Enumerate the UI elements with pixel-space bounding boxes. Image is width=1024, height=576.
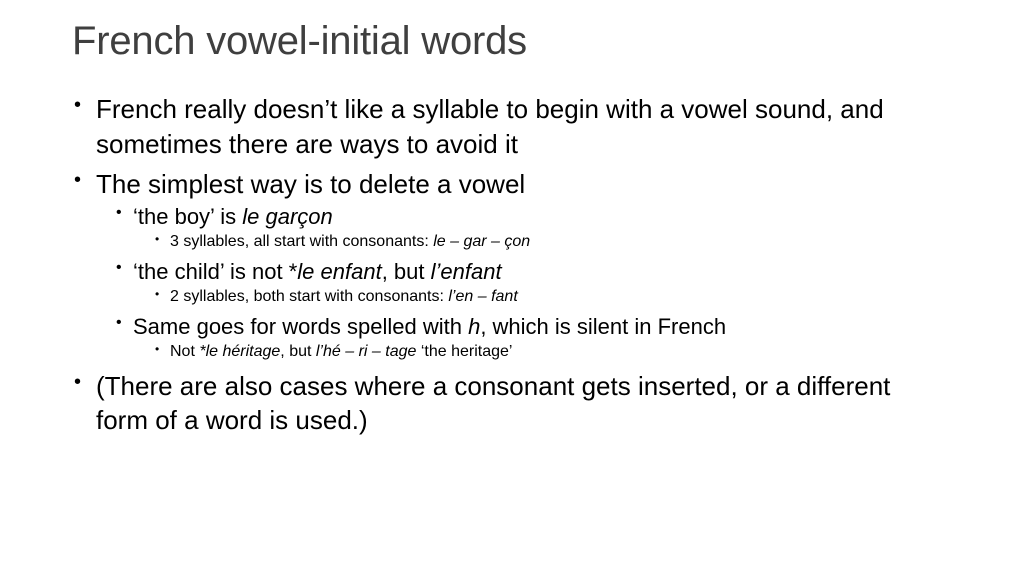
bullet-text-italic: *le héritage <box>199 343 280 360</box>
bullet-glyph: • <box>74 92 81 119</box>
bullet-text: (There are also cases where a consonant … <box>96 371 890 436</box>
bullet-text: The simplest way is to delete a vowel <box>96 169 525 199</box>
bullet-text-italic: l’en – fant <box>448 288 517 305</box>
bullet-text-italic: h <box>468 314 480 339</box>
bullet-level3: •Not *le héritage, but l’hé – ri – tage … <box>0 341 1024 363</box>
bullet-level1: •French really doesn’t like a syllable t… <box>0 92 1024 161</box>
bullet-level1: •(There are also cases where a consonant… <box>0 369 1024 438</box>
page-title: French vowel-initial words <box>72 18 972 65</box>
bullet-text-italic: le enfant <box>297 259 381 284</box>
bullet-text-plain: 2 syllables, both start with consonants: <box>170 288 448 305</box>
bullet-text-italic-2: l’enfant <box>431 259 502 284</box>
bullet-text-plain: 3 syllables, all start with consonants: <box>170 233 433 250</box>
bullet-glyph: • <box>155 231 159 247</box>
bullet-text-italic: le garçon <box>242 204 333 229</box>
bullet-level3: •3 syllables, all start with consonants:… <box>0 231 1024 253</box>
bullet-level2: •‘the boy’ is le garçon <box>0 202 1024 231</box>
bullet-glyph: • <box>116 202 122 223</box>
bullet-text-italic-2: l’hé – ri – tage <box>316 343 417 360</box>
bullet-level3: •2 syllables, both start with consonants… <box>0 286 1024 308</box>
bullet-text-plain-2: , which is silent in French <box>480 314 726 339</box>
bullet-text-plain: Not <box>170 343 199 360</box>
bullet-text-plain: ‘the boy’ is <box>133 204 242 229</box>
bullet-text-plain: Same goes for words spelled with <box>133 314 468 339</box>
bullet-level2: •‘the child’ is not *le enfant, but l’en… <box>0 257 1024 286</box>
bullet-glyph: • <box>155 341 159 357</box>
slide: French vowel-initial words •French reall… <box>0 0 1024 576</box>
bullet-glyph: • <box>116 312 122 333</box>
bullet-glyph: • <box>74 369 81 396</box>
bullet-text: French really doesn’t like a syllable to… <box>96 94 884 159</box>
bullet-text-plain-2: , but <box>280 343 316 360</box>
bullet-text-italic: le – gar – çon <box>433 233 530 250</box>
bullet-text-plain-3: ‘the heritage’ <box>416 343 512 360</box>
bullet-glyph: • <box>116 257 122 278</box>
slide-body: •French really doesn’t like a syllable t… <box>0 92 1024 438</box>
bullet-glyph: • <box>155 286 159 302</box>
bullet-text-plain-2: , but <box>382 259 431 284</box>
bullet-level2: •Same goes for words spelled with h, whi… <box>0 312 1024 341</box>
bullet-level1: •The simplest way is to delete a vowel <box>0 167 1024 202</box>
bullet-glyph: • <box>74 167 81 194</box>
bullet-text-plain: ‘the child’ is not * <box>133 259 297 284</box>
